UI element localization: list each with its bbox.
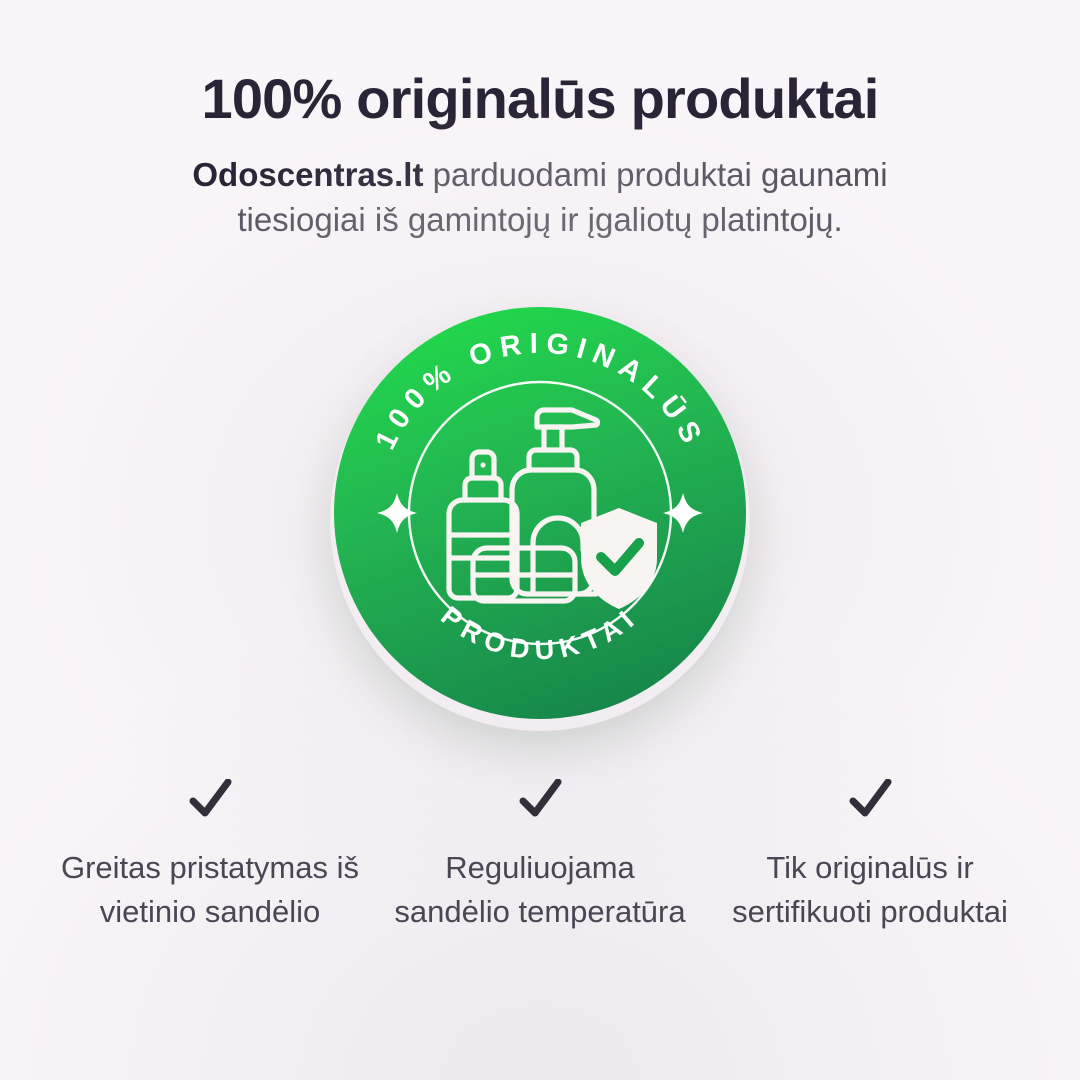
feature-item-2: Reguliuojama sandėlio temperatūra — [375, 770, 705, 934]
page-subtitle: Odoscentras.lt parduodami produktai gaun… — [125, 153, 955, 243]
brand-name: Odoscentras.lt — [192, 156, 423, 193]
feature-label-1: Greitas pristatymas iš vietinio sandėlio — [60, 846, 360, 934]
check-icon-2 — [518, 770, 562, 828]
badge-graphic: 100% ORIGINALŪS PRODUKTAI — [334, 307, 746, 719]
feature-label-2: Reguliuojama sandėlio temperatūra — [390, 846, 690, 934]
header: 100% originalūs produktai Odoscentras.lt… — [0, 0, 1080, 242]
check-icon-3 — [848, 770, 892, 828]
features-row: Greitas pristatymas iš vietinio sandėlio… — [0, 770, 1080, 934]
feature-item-3: Tik originalūs ir sertifikuoti produktai — [705, 770, 1035, 934]
feature-label-3: Tik originalūs ir sertifikuoti produktai — [720, 846, 1020, 934]
page-title: 100% originalūs produktai — [0, 68, 1080, 131]
check-icon-1 — [188, 770, 232, 828]
feature-item-1: Greitas pristatymas iš vietinio sandėlio — [45, 770, 375, 934]
promo-banner: 100% originalūs produktai Odoscentras.lt… — [0, 0, 1080, 1080]
originality-badge: 100% ORIGINALŪS PRODUKTAI — [334, 307, 746, 719]
